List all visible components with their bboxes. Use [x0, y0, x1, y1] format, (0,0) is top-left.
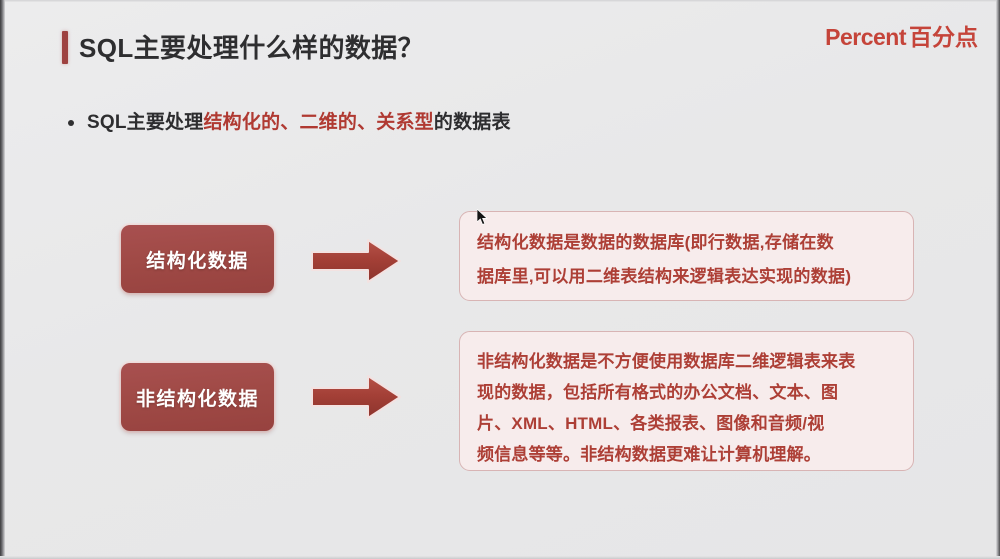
frame-edge-left: [0, 0, 5, 559]
brand-logo-chinese: 百分点: [909, 18, 978, 52]
title-accent-bar: [62, 31, 68, 64]
callout-line: 非结构化数据是不方便使用数据库二维逻辑表来表: [477, 346, 896, 377]
callout-line: 现的数据，包括所有格式的办公文档、文本、图: [477, 377, 896, 408]
callout-line: 结构化数据是数据的数据库(即行数据,存储在数: [477, 226, 896, 260]
bullet-line: SQL主要处理 结构化的、二维的、关系型 的数据表: [68, 112, 511, 135]
bullet-text-suffix: 的数据表: [434, 112, 511, 135]
callout-structured-data: 结构化数据是数据的数据库(即行数据,存储在数 据库里,可以用二维表结构来逻辑表达…: [459, 211, 914, 301]
bullet-text-prefix: SQL主要处理: [87, 112, 203, 135]
label-box-unstructured-data: 非结构化数据: [121, 363, 274, 431]
callout-line: 据库里,可以用二维表结构来逻辑表达实现的数据): [477, 260, 896, 294]
label-box-unstructured-text: 非结构化数据: [136, 384, 259, 411]
callout-line: 片、XML、HTML、各类报表、图像和音频/视: [477, 408, 896, 439]
label-box-structured-text: 结构化数据: [146, 246, 249, 273]
mouse-cursor-icon: [477, 209, 490, 227]
brand-logo-latin: Percent: [825, 24, 906, 51]
page-title-text: SQL主要处理什么样的数据？: [79, 35, 424, 61]
bullet-text-highlight: 结构化的、二维的、关系型: [203, 112, 433, 135]
page-title: SQL主要处理什么样的数据？: [62, 31, 424, 64]
bullet-dot-icon: [68, 120, 74, 126]
frame-edge-top: [0, 0, 1000, 2]
slide-canvas: Percent 百分点 SQL主要处理什么样的数据？ SQL主要处理 结构化的、…: [0, 0, 1000, 559]
frame-edge-right: [996, 0, 1000, 559]
right-arrow-icon: [310, 374, 402, 420]
label-box-structured-data: 结构化数据: [121, 225, 274, 293]
brand-logo: Percent 百分点: [825, 18, 978, 52]
callout-unstructured-data: 非结构化数据是不方便使用数据库二维逻辑表来表 现的数据，包括所有格式的办公文档、…: [459, 331, 914, 471]
right-arrow-icon: [310, 238, 402, 284]
callout-line: 频信息等等。非结构数据更难让计算机理解。: [477, 439, 896, 470]
